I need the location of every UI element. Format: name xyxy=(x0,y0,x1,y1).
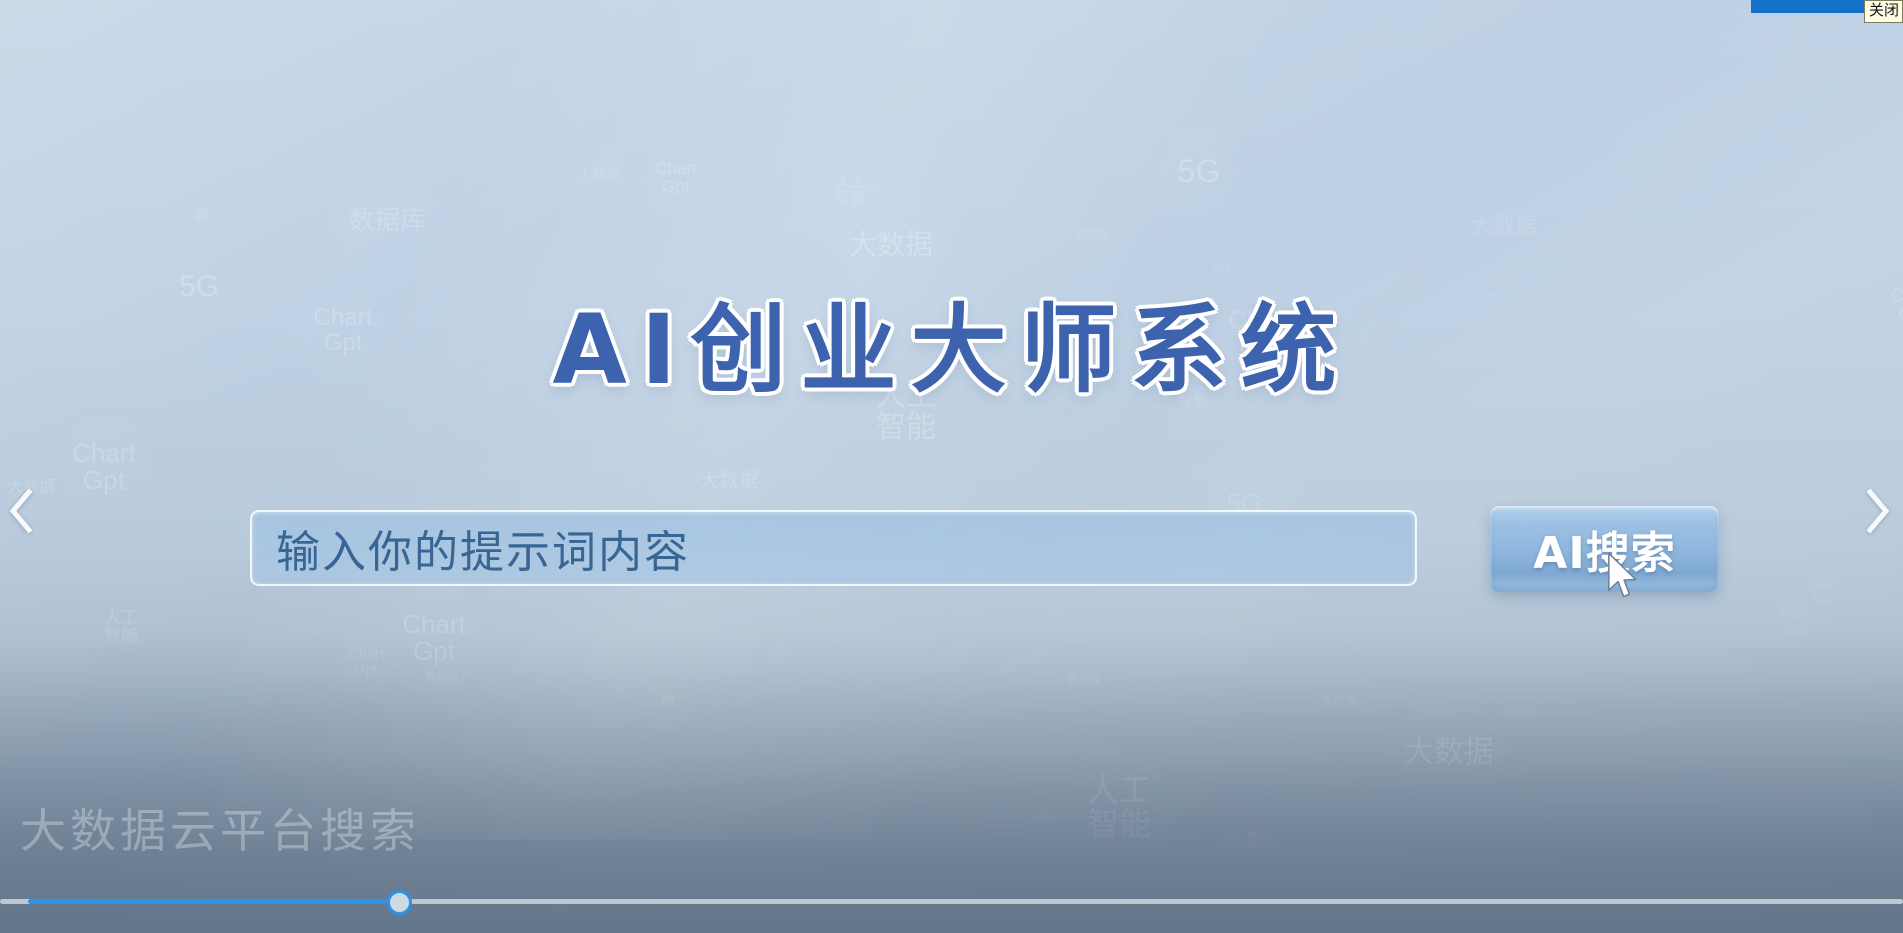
slider-fill xyxy=(28,899,400,904)
ai-search-button-label: AI搜索 xyxy=(1533,517,1675,581)
carousel-next-button[interactable] xyxy=(1855,482,1899,540)
close-tooltip: 关闭 xyxy=(1864,0,1903,23)
slider-thumb[interactable] xyxy=(387,890,412,915)
chevron-left-icon xyxy=(7,488,37,534)
search-row: 输入你的提示词内容 AI搜索 xyxy=(250,510,1722,590)
progress-slider[interactable] xyxy=(0,890,1903,912)
window-bar-segment xyxy=(1751,0,1871,13)
ai-search-button[interactable]: AI搜索 xyxy=(1490,506,1719,592)
search-placeholder: 输入你的提示词内容 xyxy=(276,516,690,580)
app-root: 数据库数5GChart GptChart Gpt大数据大数据Chart Gpt人… xyxy=(0,0,1903,933)
background-gradient xyxy=(0,0,1903,933)
page-title: AI创业大师系统 xyxy=(0,272,1903,411)
search-input[interactable]: 输入你的提示词内容 xyxy=(250,510,1417,586)
chevron-right-icon xyxy=(1862,488,1892,534)
carousel-prev-button[interactable] xyxy=(0,482,44,540)
